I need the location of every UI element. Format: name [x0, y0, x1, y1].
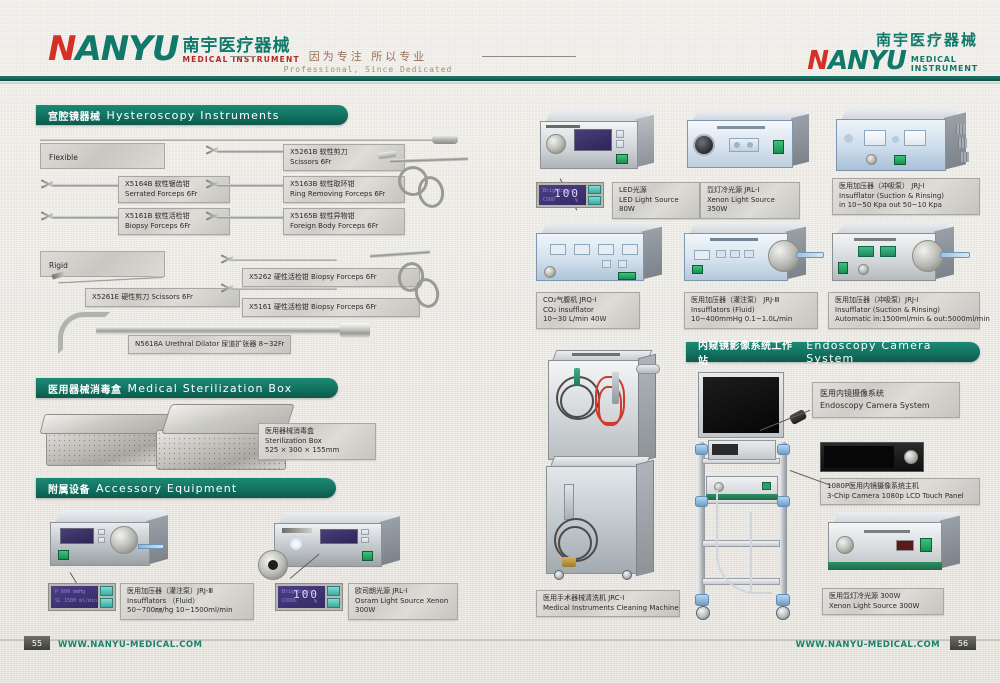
caption-1080p-en: 3-Chip Camera 1080p LCD Touch Panel — [827, 492, 973, 502]
product-insufflator-suction-auto — [828, 222, 980, 290]
caption-suction-en: Insufflator (Suction & Rinsing) — [839, 192, 973, 202]
caption-n5618a-text: N5618A Urethral Dilator 尿道扩张器 8~32Fr — [135, 339, 284, 350]
caption-co2-en: CO₂ insufflator — [543, 306, 633, 316]
footer-url-right[interactable]: WWW.NANYU-MEDICAL.COM — [796, 640, 940, 650]
camera-controller-port — [904, 450, 918, 464]
washer-brass-nozzle — [562, 557, 576, 567]
instrument-shaft-scissors-flex — [217, 150, 292, 153]
product-endoscopy-cart — [692, 372, 812, 622]
brand-en-right-line2: INSTRUMENT — [911, 64, 978, 73]
caption-insufflator-fluid: 医用加压器（灌注泵）JRJ-Ⅲ Insufflators （Fluid） 50~… — [120, 583, 254, 620]
instrument-shaft-foreign-body — [217, 216, 292, 219]
auto-power-switch[interactable] — [838, 262, 848, 274]
instrument-shaft-serrated — [52, 184, 127, 187]
section-title-en: Hysteroscopy Instruments — [107, 109, 280, 122]
slogan-rule-right — [482, 56, 576, 57]
fluid-brand-text — [710, 238, 758, 241]
caption-x5262-text: X5262 硬性活检钳 Biopsy Forceps 6Fr — [249, 272, 413, 283]
led-side-panel — [636, 115, 654, 167]
camera-controller-touch-panel — [824, 446, 894, 468]
caption-osram-cn: 欧司朗光源 JRL-Ⅰ — [355, 587, 451, 597]
cart-rail-right — [780, 442, 787, 606]
xenon-side-panel — [791, 114, 809, 166]
washer-lower-side — [636, 460, 654, 576]
auto-knob[interactable] — [858, 264, 869, 275]
xenon-button-b[interactable] — [747, 142, 753, 148]
caption-xenon-light-source: 氙灯冷光源 JRL-Ⅰ Xenon Light Source 350W — [700, 182, 800, 219]
dilator-hub — [340, 323, 370, 338]
osram-button-down[interactable] — [361, 537, 369, 543]
osram-display — [320, 529, 358, 544]
washer-door-handle — [564, 484, 574, 520]
caption-xenon-spec: 350W — [707, 205, 793, 215]
caption-cleaning-machine: 医用手术器械清洗机 JRC-Ⅰ Medical Instruments Clea… — [536, 590, 680, 617]
instrument-forceps-shaft-2 — [370, 250, 430, 258]
product-co2-insufflator — [532, 222, 670, 290]
caption-x5165b-cn: X5165B 软性异物钳 — [290, 212, 398, 222]
lcd-closeup-insufflator: P 600 mmHg SL 1500 ml/min — [48, 583, 116, 611]
product-xenon-light-source — [683, 110, 813, 176]
product-led-light-source — [536, 110, 660, 176]
lcd-closeup-osram: Brightness COOOL 100 % — [275, 583, 343, 611]
brand-letters-anyu-right: ANYU — [828, 46, 906, 76]
cart-light-guide-cable-2 — [750, 512, 752, 594]
led-button-up[interactable] — [616, 130, 624, 138]
lcd-led-keypad[interactable] — [588, 185, 601, 205]
auto-brand-text — [854, 238, 896, 241]
caption-led-light-source: LED光源 LED Light Source 80W — [612, 182, 700, 219]
osram-light-port — [290, 538, 302, 550]
lcd-screen-led: Brightness COOO 100 % — [539, 185, 586, 205]
caption-washer-cn: 医用手术器械清洗机 JRC-Ⅰ — [543, 594, 673, 604]
lcd-keypad[interactable] — [100, 586, 113, 608]
cart-wheel-right — [776, 606, 790, 620]
caption-led-cn: LED光源 — [619, 186, 693, 196]
product-xenon-300w — [822, 512, 972, 578]
xenon-power-switch[interactable] — [773, 140, 784, 154]
led-button-down[interactable] — [616, 140, 624, 148]
caption-fluid-en: Insufflators (Fluid) — [691, 306, 811, 316]
lcd-led-key-up[interactable] — [588, 185, 601, 194]
cart-joint-r3 — [776, 594, 790, 606]
lcd-label-1: P 600 mmHg — [55, 589, 85, 595]
section-header-sterilization: 医用器械消毒盒 Medical Sterilization Box — [36, 378, 338, 398]
caption-xenon-en: Xenon Light Source — [707, 196, 793, 206]
xenon-button-a[interactable] — [734, 142, 740, 148]
caption-sterilization-cn: 医用器械消毒盒 — [265, 427, 369, 437]
fluid-display-1 — [694, 250, 710, 260]
brand-letter-n: N — [48, 29, 75, 69]
co2-display-3 — [598, 244, 614, 255]
caption-osram-spec: 300W — [355, 606, 451, 616]
caption-insufflator-cn: 医用加压器（灌注泵）JRJ-Ⅲ — [127, 587, 247, 597]
suction-indicator-2 — [892, 136, 899, 143]
fluid-tube-connector — [796, 252, 824, 258]
caption-x5164b-en: Serrated Forceps 6Fr — [125, 190, 223, 200]
caption-sterilization-en: Sterilization Box — [265, 437, 369, 447]
caption-sterilization-box: 医用器械消毒盒 Sterilization Box 525 × 300 × 15… — [258, 423, 376, 460]
section-header-accessory: 附属设备 Accessory Equipment — [36, 478, 336, 498]
instrument-shaft-x5161 — [232, 288, 337, 290]
caption-fluid-spec: 10~400mmHg 0.1~1.0L/min — [691, 315, 811, 325]
caption-suction-cn: 医用加压器（冲吸泵） JRJ-Ⅰ — [839, 182, 973, 192]
led-display — [574, 129, 612, 151]
suction-vent-3 — [960, 152, 969, 162]
caption-x5161b-en: Biopsy Forceps 6Fr — [125, 222, 223, 232]
washer-tray — [636, 364, 660, 374]
caption-co2-insufflator: CO₂气腹机 JRQ-Ⅰ CO₂ insufflator 10~30 L/min… — [536, 292, 640, 329]
caption-insufflator-suction-auto: 医用加压器（冲吸泵）JRJ-Ⅰ Insufflator (Suction & R… — [828, 292, 980, 329]
washer-brand-text — [572, 353, 620, 356]
lcd-osram-key-down[interactable] — [327, 598, 340, 608]
caption-insufflator-fluid-right: 医用加压器（灌注泵） JRJ-Ⅲ Insufflators (Fluid) 10… — [684, 292, 818, 329]
caption-auto-spec: Automatic in:1500ml/min & out:5000ml/min — [835, 315, 973, 325]
header-divider-light — [0, 82, 1000, 84]
caption-insufflator-suction: 医用加压器（冲吸泵） JRJ-Ⅰ Insufflator (Suction & … — [832, 178, 980, 215]
slogan-cn: 因为专注 所以专业 — [258, 48, 478, 64]
caption-x5163b-en: Ring Removing Forceps 6Fr — [290, 190, 398, 200]
lcd-osram-keypad[interactable] — [327, 586, 340, 608]
footer-url-left[interactable]: WWW.NANYU-MEDICAL.COM — [58, 640, 202, 650]
caption-x5261b-en: Scissors 6Fr — [290, 158, 398, 168]
caption-washer-en: Medical Instruments Cleaning Machine — [543, 604, 673, 614]
co2-gas-port — [544, 266, 556, 278]
caption-led-spec: 80W — [619, 205, 693, 215]
brand-letter-n-right: N — [807, 46, 828, 76]
suction-power-switch[interactable] — [894, 155, 906, 165]
device-display — [60, 528, 94, 544]
caption-xenon-cn: 氙灯冷光源 JRL-Ⅰ — [707, 186, 793, 196]
section-title-cn-sterilization: 医用器械消毒盒 — [48, 381, 122, 396]
brand-logo-right: 南宇医疗器械 NANYU MEDICAL INSTRUMENT — [807, 32, 978, 73]
brand-en-right: MEDICAL INSTRUMENT — [911, 55, 978, 73]
lcd-closeup-led: Brightness COOO 100 % — [536, 182, 604, 208]
caption-xenon300-en: Xenon Light Source 300W — [829, 602, 937, 612]
led-brightness-knob[interactable] — [546, 134, 566, 154]
fluid-power-switch[interactable] — [692, 265, 703, 274]
lcd-screen-osram: Brightness COOOL 100 % — [278, 586, 325, 608]
lcd-screen-insufflator: P 600 mmHg SL 1500 ml/min — [51, 586, 98, 608]
product-insufflator-fluid-left — [46, 510, 176, 572]
page-number-left: 55 — [24, 636, 50, 650]
auto-display-1 — [858, 246, 874, 257]
suction-vent-1 — [956, 124, 965, 134]
light-source-led — [762, 482, 771, 490]
led-brand-text — [546, 125, 580, 128]
caption-x5165b: X5165B 软性异物钳 Foreign Body Forceps 6Fr — [283, 208, 405, 235]
adapter-aperture — [268, 560, 278, 570]
osram-side-panel — [380, 516, 400, 566]
washer-wheel-left — [554, 570, 564, 580]
caption-n5618a: N5618A Urethral Dilator 尿道扩张器 8~32Fr — [128, 335, 291, 354]
caption-1080p-camera: 1080P医用内镜摄像系统主机 3-Chip Camera 1080p LCD … — [820, 478, 980, 505]
product-insufflator-suction-rinsing — [832, 108, 978, 180]
xenon300-green-strip — [828, 562, 942, 570]
caption-sterilization-dims: 525 × 300 × 155mm — [265, 446, 369, 456]
caption-co2-spec: 10~30 L/min 40W — [543, 315, 633, 325]
section-title-en-sterilization: Medical Sterilization Box — [128, 382, 293, 395]
fluid-button-1[interactable] — [716, 250, 726, 258]
lcd-led-unit: % — [575, 198, 578, 204]
suction-front-panel — [836, 119, 946, 171]
washer-black-hose-coil-inner — [558, 526, 592, 560]
caption-x5261e: X5261E 硬性剪刀 Scissors 6Fr — [85, 288, 240, 307]
xenon300-light-port — [836, 536, 854, 554]
caption-osram-en: Osram Light Source Xenon — [355, 597, 451, 607]
slogan: 因为专注 所以专业 Professional, Since Dedicated — [258, 48, 478, 74]
monitor-screen — [703, 377, 779, 433]
fluid-button-3[interactable] — [744, 250, 754, 258]
led-power-switch[interactable] — [616, 154, 628, 164]
fluid-button-2[interactable] — [730, 250, 740, 258]
header-divider — [0, 76, 1000, 81]
osram-power-led — [362, 551, 373, 561]
caption-xenon300-cn: 医用氙灯冷光源 300W — [829, 592, 937, 602]
xenon300-brand-text — [864, 530, 910, 533]
xenon-brand-text — [717, 126, 765, 129]
suction-vent-2 — [958, 138, 967, 148]
device-button-1 — [98, 529, 105, 535]
xenon300-power-switch[interactable] — [920, 538, 932, 552]
caption-x5164b: X5164B 软性锯齿钳 Serrated Forceps 6Fr — [118, 176, 230, 203]
suction-knob[interactable] — [866, 154, 877, 165]
instrument-shaft-x5262 — [232, 259, 337, 261]
product-1080p-camera-controller — [820, 438, 940, 476]
auto-display-2 — [880, 246, 896, 257]
cart-joint-r2 — [777, 496, 790, 507]
co2-display-1 — [550, 244, 566, 255]
section-title-en-accessory: Accessory Equipment — [96, 482, 237, 495]
caption-xenon-300w: 医用氙灯冷光源 300W Xenon Light Source 300W — [822, 588, 944, 615]
instrument-shaft-ring — [217, 184, 292, 187]
caption-fluid-cn: 医用加压器（灌注泵） JRJ-Ⅲ — [691, 296, 811, 306]
caption-camera-system-cn: 医用内镜摄像系统 — [820, 388, 952, 400]
caption-x5163b-cn: X5163B 软性取环钳 — [290, 180, 398, 190]
brand-en-right-line1: MEDICAL — [911, 55, 978, 64]
catalog-page: NANYU 南宇医疗器械 MEDICAL INSTRUMENT 因为专注 所以专… — [0, 0, 1000, 683]
lcd-key-up[interactable] — [100, 586, 113, 596]
caption-x5261e-text: X5261E 硬性剪刀 Scissors 6Fr — [92, 292, 233, 303]
group-label-rigid-text: Rigid — [49, 261, 68, 270]
camera-controller-display — [712, 444, 738, 455]
co2-display-2 — [574, 244, 590, 255]
caption-osram-light-source: 欧司朗光源 JRL-Ⅰ Osram Light Source Xenon 300… — [348, 583, 458, 620]
suction-display-2 — [904, 130, 926, 146]
cart-joint-l3 — [695, 594, 709, 606]
caption-auto-en: Insufflator (Suction & Rinsing) — [835, 306, 973, 316]
caption-led-en: LED Light Source — [619, 196, 693, 206]
lcd-osram-unit: % — [314, 599, 317, 605]
co2-display-4 — [622, 244, 638, 255]
instrument-flexible-scope — [40, 139, 440, 141]
slogan-en: Professional, Since Dedicated — [258, 65, 478, 74]
lcd-key-down[interactable] — [100, 598, 113, 608]
caption-x5262: X5262 硬性活检钳 Biopsy Forceps 6Fr — [242, 268, 420, 287]
instrument-scope-handle — [432, 135, 458, 144]
section-title-cn-camera: 内窥镜影像系统工作站 — [698, 337, 800, 367]
cart-monitor — [698, 372, 784, 438]
group-label-flexible: Flexible — [40, 143, 165, 169]
page-header: NANYU 南宇医疗器械 MEDICAL INSTRUMENT 因为专注 所以专… — [0, 0, 1000, 82]
caption-insufflator-spec: 50~700㎜/hg 10~1500ml/min — [127, 606, 247, 616]
caption-insufflator-en: Insufflators （Fluid） — [127, 597, 247, 607]
caption-x5163b: X5163B 软性取环钳 Ring Removing Forceps 6Fr — [283, 176, 405, 203]
brand-letters-anyu: ANYU — [75, 29, 178, 69]
section-header-hysteroscopy: 宫腔镜器械 Hysteroscopy Instruments — [36, 105, 348, 125]
product-osram-light-source — [268, 512, 406, 574]
washer-spray-gun — [612, 372, 619, 404]
slogan-rule-left — [230, 56, 256, 57]
cart-joint-r1 — [777, 444, 790, 455]
washer-wheel-right — [622, 570, 632, 580]
washer-green-handle — [574, 368, 580, 386]
device-tube-connector — [138, 544, 164, 549]
cart-joint-l1 — [695, 444, 708, 455]
caption-auto-cn: 医用加压器（冲吸泵）JRJ-Ⅰ — [835, 296, 973, 306]
device-pump-head — [110, 526, 138, 554]
dilator-body — [96, 326, 346, 335]
section-title-cn: 宫腔镜器械 — [48, 108, 101, 123]
suction-indicator-1 — [844, 134, 853, 143]
brand-wordmark-left: NANYU — [48, 34, 178, 64]
co2-power-switch[interactable] — [618, 272, 636, 280]
caption-x5161b: X5161B 软性活检钳 Biopsy Forceps 6Fr — [118, 208, 230, 235]
xenon300-side-panel — [940, 516, 960, 569]
xenon-light-port — [693, 134, 715, 156]
xenon300-display — [896, 540, 914, 551]
device-power-led — [58, 550, 69, 560]
caption-suction-spec: in 10~50 Kpa out 50~10 Kpa — [839, 201, 973, 211]
instrument-shaft-x5261e — [58, 276, 163, 283]
caption-camera-system-en: Endoscopy Camera System — [820, 400, 952, 412]
section-title-cn-accessory: 附属设备 — [48, 481, 90, 496]
cart-light-guide-cable — [716, 490, 772, 594]
cart-joint-l2 — [695, 496, 708, 507]
washer-gray-hose-coil-inner — [560, 384, 594, 418]
auto-tube-connector — [940, 252, 970, 258]
suction-display-1 — [864, 130, 886, 146]
instrument-shaft-biopsy-flex — [52, 216, 127, 219]
lcd-label-2: SL 1500 ml/min — [55, 598, 97, 604]
product-cleaning-machine — [540, 350, 670, 600]
osram-button-up[interactable] — [361, 529, 369, 535]
co2-button-2[interactable] — [618, 260, 627, 268]
caption-1080p-cn: 1080P医用内镜摄像系统主机 — [827, 482, 973, 492]
brand-wordmark-right: NANYU — [807, 49, 906, 73]
product-insufflator-fluid-right — [680, 222, 830, 290]
page-number-right: 56 — [950, 636, 976, 650]
washer-lower-body — [546, 466, 638, 574]
group-label-flexible-text: Flexible — [49, 153, 78, 162]
osram-front-label — [282, 528, 312, 533]
caption-x5165b-en: Foreign Body Forceps 6Fr — [290, 222, 398, 232]
co2-button-1[interactable] — [602, 260, 611, 268]
caption-co2-cn: CO₂气腹机 JRQ-Ⅰ — [543, 296, 633, 306]
lcd-osram-key-up[interactable] — [327, 586, 340, 596]
cart-wheel-left — [696, 606, 710, 620]
co2-side-panel — [642, 227, 662, 280]
section-header-camera-system: 内窥镜影像系统工作站 Endoscopy Camera System — [686, 342, 980, 362]
caption-endoscopy-camera-system: 医用内镜摄像系统 Endoscopy Camera System — [812, 382, 960, 418]
device-button-2 — [98, 537, 105, 543]
section-title-en-camera: Endoscopy Camera System — [806, 339, 980, 365]
lcd-led-key-down[interactable] — [588, 196, 601, 205]
